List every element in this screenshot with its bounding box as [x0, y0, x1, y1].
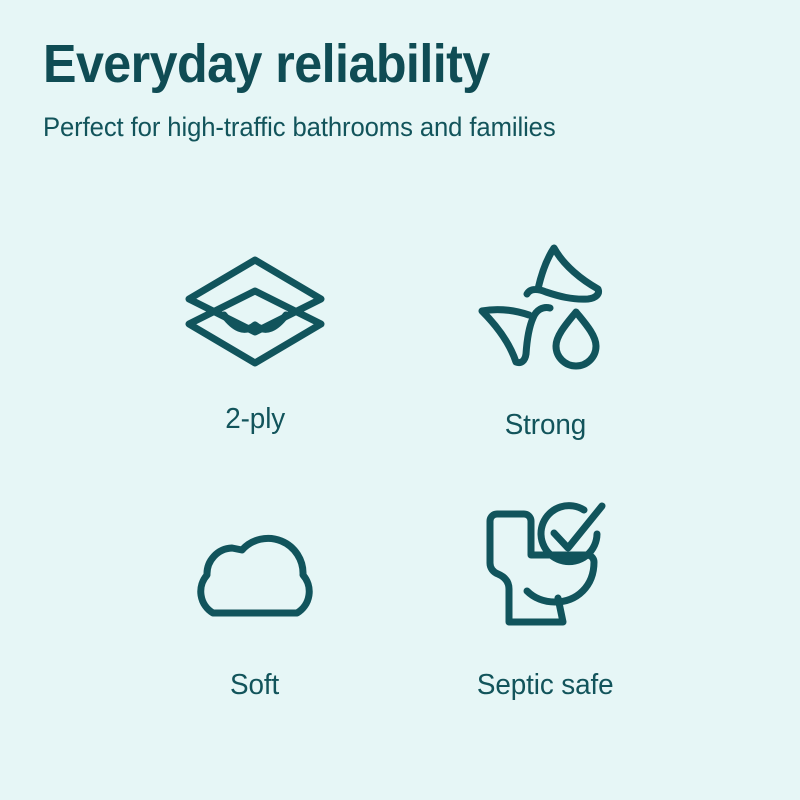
feature-label: Soft — [230, 668, 279, 702]
two-ply-layers-icon — [180, 242, 330, 382]
feature-label: Septic safe — [477, 668, 614, 702]
header: Everyday reliability Perfect for high-tr… — [43, 34, 757, 143]
product-feature-panel: Everyday reliability Perfect for high-tr… — [0, 0, 800, 800]
feature-item-soft: Soft — [110, 480, 400, 732]
toilet-check-icon — [466, 492, 616, 632]
wet-strength-tissue-droplet-icon — [468, 236, 618, 376]
cloud-icon — [180, 500, 330, 640]
feature-label: Strong — [504, 408, 585, 442]
feature-item-strong: Strong — [400, 228, 690, 480]
page-subtitle: Perfect for high-traffic bathrooms and f… — [43, 111, 721, 143]
feature-label: 2-ply — [225, 402, 285, 436]
feature-item-septic-safe: Septic safe — [400, 480, 690, 732]
page-title: Everyday reliability — [43, 34, 707, 94]
feature-grid: 2-ply Strong So — [110, 228, 690, 732]
feature-item-two-ply: 2-ply — [110, 228, 400, 480]
